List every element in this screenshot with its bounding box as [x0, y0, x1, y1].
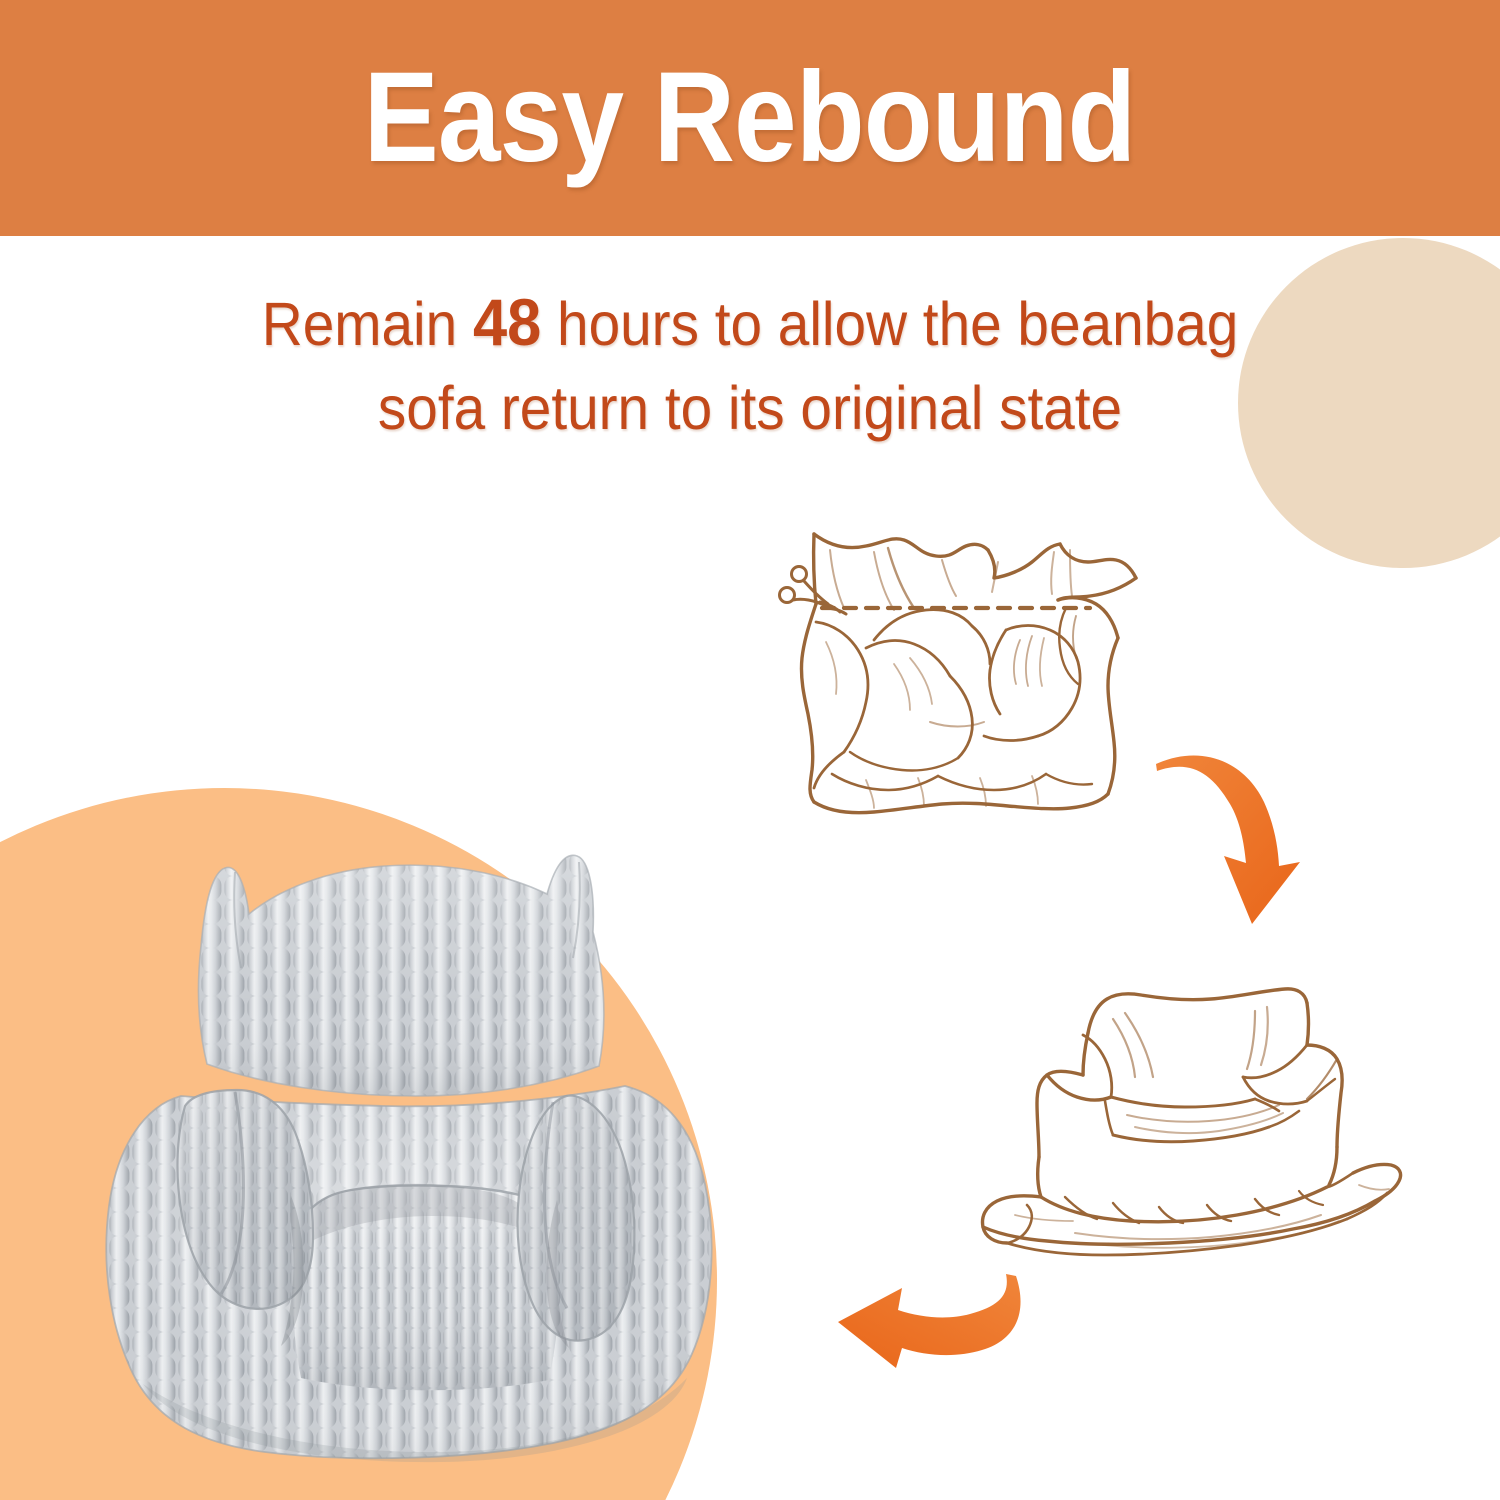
- curved-arrow-left-icon: [820, 1268, 1070, 1403]
- page-title: Easy Rebound: [364, 54, 1136, 182]
- step2-unpacked-beanbag-sketch: [955, 945, 1425, 1260]
- header-banner: Easy Rebound: [0, 0, 1500, 236]
- subtitle: Remain 48 hours to allow the beanbag sof…: [53, 280, 1448, 450]
- subtitle-text-after: hours to allow the beanbag: [541, 290, 1238, 358]
- beanbag-sofa-product-image: [85, 828, 765, 1468]
- subtitle-text-before: Remain: [262, 290, 473, 358]
- step1-packed-beanbag-sketch: [770, 512, 1160, 832]
- curved-arrow-down-icon: [1148, 738, 1348, 933]
- subtitle-hours-number: 48: [473, 285, 541, 359]
- product-infographic: Easy Rebound Remain 48 hours to allow th…: [0, 0, 1500, 1500]
- subtitle-line-1: Remain 48 hours to allow the beanbag: [53, 280, 1448, 366]
- subtitle-line-2: sofa return to its original state: [53, 366, 1448, 450]
